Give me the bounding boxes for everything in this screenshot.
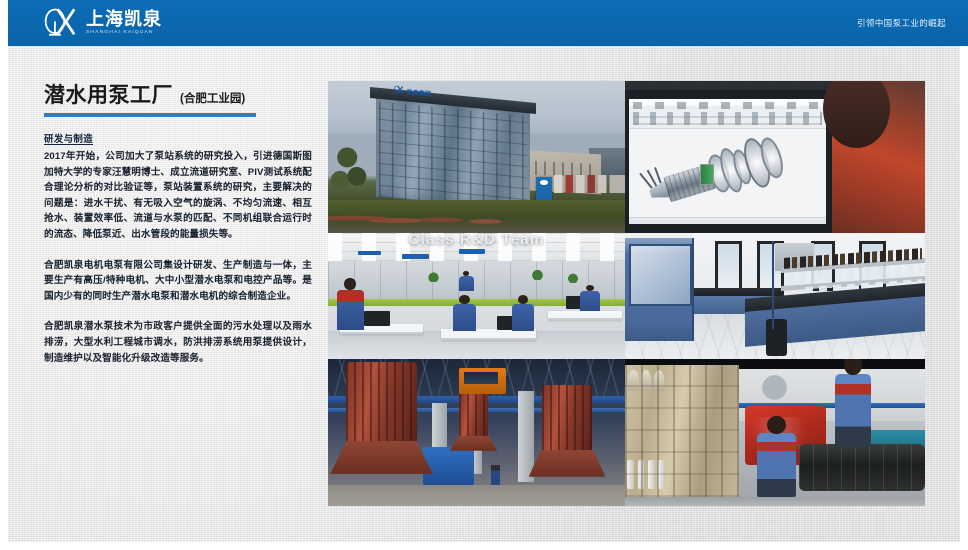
- black-shaft-housing: [799, 444, 925, 491]
- kaiquan-roof-logo-icon: [393, 85, 404, 96]
- engine-exhaust-pipe: [641, 370, 651, 391]
- engine-oil-filter: [648, 460, 655, 489]
- office-desk: [548, 311, 622, 320]
- building-trees: [328, 127, 376, 203]
- office-hanging-banner: [459, 249, 486, 253]
- cad-screen: [629, 99, 826, 225]
- photo-large-pumps-hall: [328, 359, 625, 506]
- office-staff-figure: [459, 276, 474, 291]
- text-column: 潜水用泵工厂 (合肥工业园) 研发与制造 2017年开始，公司加大了泵站系统的研…: [44, 84, 312, 366]
- engine-exhaust-pipe: [654, 370, 664, 391]
- technician-figure-standing: [835, 374, 871, 448]
- diesel-engine-block: [625, 365, 739, 497]
- presentation-slide: 上海凯泉 SHANGHAI KAIQUAN 引领中国泵工业的崛起 潜水用泵工厂 …: [0, 0, 968, 550]
- photo-cad-workstation: [625, 81, 925, 233]
- cad-engineer-silhouette: [832, 81, 925, 233]
- body-paragraph-2: 合肥凯泉电机电泵有限公司集设计研发、生产制造与一体，主要生产有高压/特种电机、大…: [44, 258, 312, 305]
- page-title-sub: (合肥工业园): [180, 90, 245, 106]
- cad-color-swatch-tool: [700, 164, 714, 185]
- submersible-pump-unit: [459, 394, 489, 438]
- building-roof-logo-text: 凯泉集团: [407, 87, 431, 98]
- submersible-pump-unit: [542, 385, 592, 453]
- header-tagline: 引领中国泵工业的崛起: [857, 0, 946, 46]
- engine-oil-filter: [627, 460, 634, 489]
- page-title: 潜水用泵工厂 (合肥工业园): [44, 84, 312, 108]
- photo-laboratory: [625, 233, 925, 359]
- office-hanging-banner: [358, 251, 382, 255]
- office-staff-figure: [337, 290, 364, 330]
- brand-logo[interactable]: 上海凯泉 SHANGHAI KAIQUAN: [41, 6, 162, 40]
- office-staff-figure: [580, 291, 599, 311]
- kaiquan-kq-monogram-icon: [41, 7, 79, 39]
- office-ceiling: [328, 233, 625, 261]
- building-landscaping: [328, 200, 625, 233]
- office-staff-figure: [512, 304, 534, 332]
- photo-corporate-building: 凯泉集团: [328, 81, 625, 233]
- engine-exhaust-pipe: [628, 370, 638, 391]
- cad-status-bar: [629, 217, 826, 225]
- crane-operator-cab: [459, 368, 507, 394]
- photo-rd-office: Class R&D Team: [328, 233, 625, 359]
- office-plant: [426, 271, 441, 282]
- lab-tall-cabinet: [625, 238, 694, 341]
- engine-oil-filter: [658, 460, 665, 489]
- building-parking-cars: [554, 175, 625, 193]
- brand-name-en: SHANGHAI KAIQUAN: [86, 29, 162, 36]
- section-heading: 研发与制造: [44, 131, 312, 145]
- workshop-floor: [625, 497, 925, 506]
- office-plant: [530, 268, 545, 279]
- title-underline-rule: [44, 113, 256, 117]
- cad-monitor: [625, 90, 838, 233]
- factory-worker-figure: [491, 465, 500, 486]
- blue-test-equipment: [423, 447, 473, 485]
- page-title-main: 潜水用泵工厂: [44, 84, 173, 108]
- office-hanging-banner: [402, 254, 429, 259]
- photo-collage: 凯泉集团: [328, 81, 925, 506]
- cad-ribbon-toolbar: [629, 99, 826, 129]
- header-bar: 上海凯泉 SHANGHAI KAIQUAN 引领中国泵工业的崛起: [8, 0, 968, 46]
- factory-floor: [328, 485, 625, 506]
- body-paragraph-3: 合肥凯泉潜水泵技术为市政客户提供全面的污水处理以及雨水排涝，大型水利工程城市调水…: [44, 319, 312, 366]
- brand-logo-text: 上海凯泉 SHANGHAI KAIQUAN: [86, 10, 162, 36]
- office-staff-figure: [453, 304, 477, 332]
- factory-column: [518, 391, 534, 482]
- submersible-pump-unit: [346, 362, 417, 444]
- bottom-white-strip: [0, 542, 968, 550]
- brand-name-cn: 上海凯泉: [86, 10, 162, 29]
- office-monitor: [364, 311, 391, 326]
- lab-chair: [766, 319, 787, 357]
- engine-oil-filter: [638, 460, 645, 489]
- lab-back-bench-top: [694, 288, 784, 296]
- technician-figure-crouching: [757, 433, 796, 498]
- body-paragraph-1: 2017年开始，公司加大了泵站系统的研究投入，引进德国斯图加特大学的专家汪慧明博…: [44, 149, 312, 243]
- lab-window: [715, 241, 742, 291]
- photo-engine-assembly: [625, 359, 925, 506]
- office-plant: [566, 272, 581, 283]
- cad-pump-3d-model: [639, 125, 793, 227]
- lab-cabinet-divider: [772, 241, 774, 329]
- building-main-facade: [376, 93, 530, 211]
